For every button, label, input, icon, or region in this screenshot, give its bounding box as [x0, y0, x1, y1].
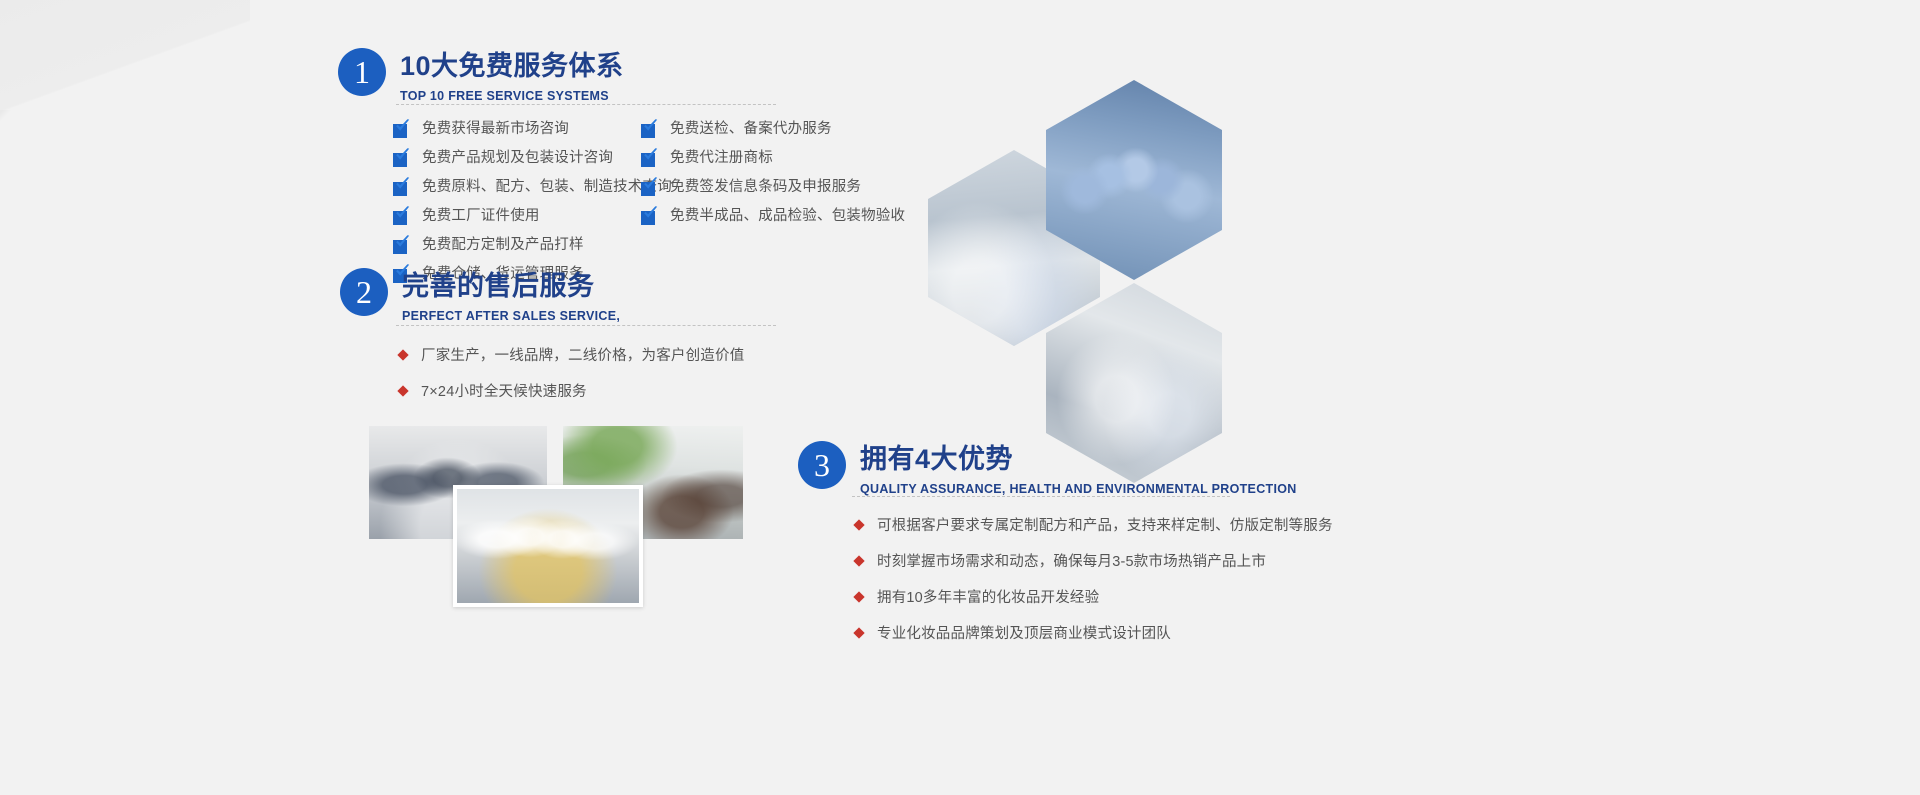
checkbox-checked-icon	[393, 180, 411, 196]
diamond-bullet-icon	[853, 555, 864, 566]
checkbox-checked-icon	[393, 122, 411, 138]
checklist-item: 免费工厂证件使用	[393, 207, 672, 225]
checklist-item-label: 免费配方定制及产品打样	[422, 236, 584, 254]
checklist-item-label: 免费获得最新市场咨询	[422, 120, 569, 138]
diamond-bullet-icon	[853, 519, 864, 530]
section-3-title-en: QUALITY ASSURANCE, HEALTH AND ENVIRONMEN…	[860, 482, 1297, 496]
checkbox-checked-icon	[393, 209, 411, 225]
section-1-title-en: TOP 10 FREE SERVICE SYSTEMS	[400, 89, 624, 103]
section-1-heading-text: 10大免费服务体系 TOP 10 FREE SERVICE SYSTEMS	[400, 44, 624, 103]
checklist-item: 免费产品规划及包装设计咨询	[393, 149, 672, 167]
section-2-bullet-list: 厂家生产，一线品牌，二线价格，为客户创造价值7×24小时全天候快速服务	[399, 344, 744, 416]
bullet-item-label: 可根据客户要求专属定制配方和产品，支持来样定制、仿版定制等服务	[877, 514, 1333, 535]
checklist-item: 免费配方定制及产品打样	[393, 236, 672, 254]
bullet-item: 时刻掌握市场需求和动态，确保每月3-5款市场热销产品上市	[855, 550, 1333, 571]
bullet-item: 7×24小时全天候快速服务	[399, 380, 744, 401]
bullet-item: 厂家生产，一线品牌，二线价格，为客户创造价值	[399, 344, 744, 365]
section-2-number-badge: 2	[340, 268, 388, 316]
checkbox-checked-icon	[641, 122, 659, 138]
section-3-divider	[852, 496, 1230, 497]
checklist-item-label: 免费签发信息条码及申报服务	[670, 178, 861, 196]
checklist-item-label: 免费代注册商标	[670, 149, 773, 167]
section-1-number-badge: 1	[338, 48, 386, 96]
section-2-divider	[396, 325, 776, 326]
bullet-item-label: 7×24小时全天候快速服务	[421, 380, 587, 401]
checklist-item-label: 免费半成品、成品检验、包装物验收	[670, 207, 905, 225]
checkbox-checked-icon	[641, 209, 659, 225]
diamond-bullet-icon	[397, 385, 408, 396]
checklist-item: 免费获得最新市场咨询	[393, 120, 672, 138]
section-1-checklist-right: 免费送检、备案代办服务免费代注册商标免费签发信息条码及申报服务免费半成品、成品检…	[641, 120, 905, 236]
section-3-number-badge: 3	[798, 441, 846, 489]
checklist-item-label: 免费送检、备案代办服务	[670, 120, 832, 138]
checkbox-checked-icon	[641, 180, 659, 196]
bullet-item: 拥有10多年丰富的化妆品开发经验	[855, 586, 1333, 607]
bullet-item-label: 专业化妆品品牌策划及顶层商业模式设计团队	[877, 622, 1171, 643]
checklist-item: 免费送检、备案代办服务	[641, 120, 905, 138]
diamond-bullet-icon	[853, 627, 864, 638]
bullet-item-label: 拥有10多年丰富的化妆品开发经验	[877, 586, 1099, 607]
section-3-bullet-list: 可根据客户要求专属定制配方和产品，支持来样定制、仿版定制等服务时刻掌握市场需求和…	[855, 514, 1333, 658]
checklist-item: 免费半成品、成品检验、包装物验收	[641, 207, 905, 225]
checklist-item-label: 免费原料、配方、包装、制造技术查询	[422, 178, 672, 196]
section-1-title-cn: 10大免费服务体系	[400, 44, 624, 83]
checkbox-checked-icon	[393, 238, 411, 254]
checklist-item: 免费代注册商标	[641, 149, 905, 167]
corner-decoration-secondary	[0, 0, 250, 110]
corner-decoration	[0, 0, 300, 250]
checklist-item: 免费原料、配方、包装、制造技术查询	[393, 178, 672, 196]
checklist-item: 免费签发信息条码及申报服务	[641, 178, 905, 196]
bullet-item: 可根据客户要求专属定制配方和产品，支持来样定制、仿版定制等服务	[855, 514, 1333, 535]
diamond-bullet-icon	[397, 349, 408, 360]
checkbox-checked-icon	[393, 151, 411, 167]
bullet-item-label: 厂家生产，一线品牌，二线价格，为客户创造价值	[421, 344, 744, 365]
bullet-item-label: 时刻掌握市场需求和动态，确保每月3-5款市场热销产品上市	[877, 550, 1266, 571]
section-1-divider	[396, 104, 776, 105]
section-2-title-en: PERFECT AFTER SALES SERVICE,	[402, 309, 620, 323]
section-2-heading-text: 完善的售后服务 PERFECT AFTER SALES SERVICE,	[402, 264, 620, 323]
checkbox-checked-icon	[641, 151, 659, 167]
bullet-item: 专业化妆品品牌策划及顶层商业模式设计团队	[855, 622, 1333, 643]
section-2-title-cn: 完善的售后服务	[402, 264, 620, 303]
diamond-bullet-icon	[853, 591, 864, 602]
photo-production-line	[453, 485, 643, 607]
page-root: 1 10大免费服务体系 TOP 10 FREE SERVICE SYSTEMS …	[0, 0, 1920, 795]
checklist-item-label: 免费产品规划及包装设计咨询	[422, 149, 613, 167]
checklist-item-label: 免费工厂证件使用	[422, 207, 540, 225]
